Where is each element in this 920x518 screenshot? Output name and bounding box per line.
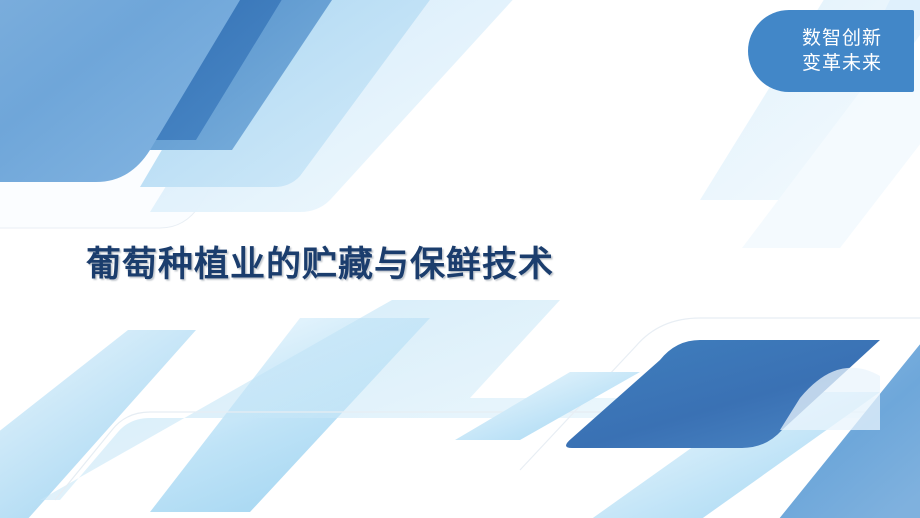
corner-badge[interactable]: 数智创新 变革未来 <box>748 10 914 92</box>
presentation-slide: 数智创新 变革未来 葡萄种植业的贮藏与保鲜技术 <box>0 0 920 518</box>
page-title: 葡萄种植业的贮藏与保鲜技术 <box>86 236 554 287</box>
badge-line-1: 数智创新 <box>802 26 882 51</box>
badge-line-2: 变革未来 <box>802 51 882 76</box>
